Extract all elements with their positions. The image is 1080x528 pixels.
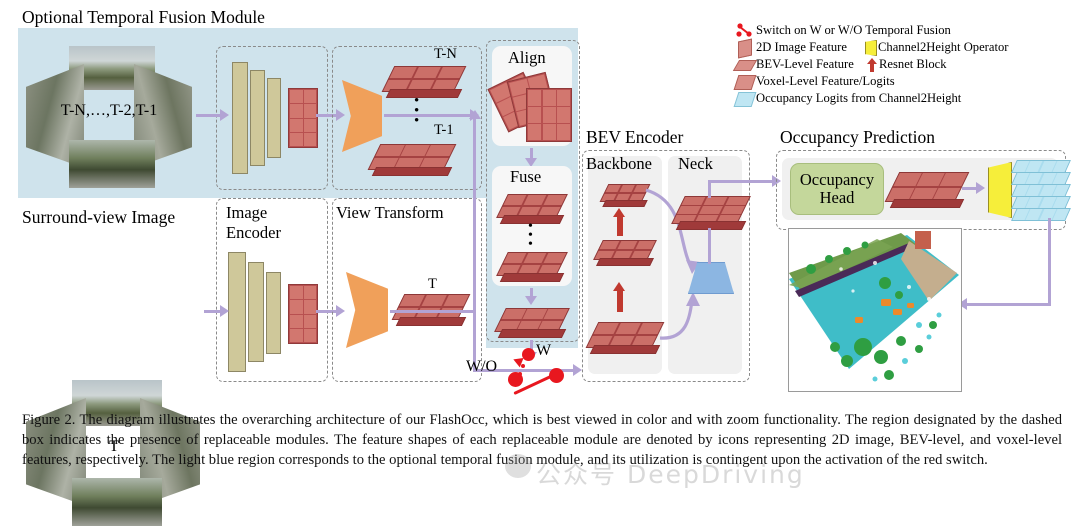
watermark: 公众号 DeepDriving	[536, 455, 805, 491]
history-timestamp-label: T-N,…,T-2,T-1	[24, 102, 194, 120]
occupancy-logits-bev	[892, 172, 962, 202]
align-title: Align	[508, 49, 546, 67]
arrow-history-ring-to-encoder	[196, 114, 222, 117]
arrowhead-9	[469, 110, 481, 119]
arrowhead-7	[220, 305, 229, 317]
occupancy-prediction-title: Occupancy Prediction	[780, 128, 935, 147]
dot-3: •	[414, 116, 419, 126]
align-aligned-grid	[526, 88, 572, 142]
arrowhead-10	[573, 364, 582, 376]
occupancy-logits-icon	[734, 92, 757, 107]
legend-label-resnet: Resnet Block	[879, 58, 947, 71]
switch-label-wo: W/O	[466, 358, 497, 376]
legend-label-occupancy-logits: Occupancy Logits from Channel2Height	[756, 92, 961, 105]
arrow-vt-branch-up	[473, 118, 476, 312]
occupancy-head-line1: Occupancy	[800, 171, 874, 189]
arrow-vt-out	[390, 310, 476, 313]
history-vertical-dots: • • •	[414, 96, 419, 126]
neck-output-bev	[678, 196, 744, 224]
legend-label-bev-feature: BEV-Level Feature	[756, 58, 854, 71]
label-t-1: T-1	[434, 122, 454, 139]
history-bev-feature-tn	[388, 66, 460, 92]
occupancy-head-line2: Head	[820, 189, 855, 207]
history-bev-feature-t1	[374, 144, 450, 170]
image-encoder-title-line2: Encoder	[226, 224, 281, 242]
history-2d-feature	[288, 88, 318, 148]
watermark-icon	[505, 454, 531, 478]
legend-label-voxel-feature: Voxel-Level Feature/Logits	[756, 75, 895, 88]
dot-6: •	[528, 240, 533, 249]
history-surround-view: T-N,…,T-2,T-1	[24, 44, 194, 190]
bev-encoder-title: BEV Encoder	[586, 128, 683, 147]
arrow-voxel-to-pointcloud	[966, 303, 1051, 306]
occupancy-pointcloud-visualization	[788, 228, 962, 392]
fused-bev-output	[500, 308, 564, 332]
arrow-neck-to-output	[708, 228, 711, 264]
arrow-history-vt-to-align	[384, 114, 472, 117]
label-t-current: T	[428, 276, 437, 293]
fuse-vertical-dots: • • •	[528, 222, 533, 249]
label-t-n: T-N	[434, 46, 457, 63]
bev-skip-connections	[582, 150, 752, 380]
legend-label-switch: Switch on W or W/O Temporal Fusion	[756, 24, 951, 37]
current-bev-feature	[398, 294, 464, 320]
history-cam-back	[69, 140, 155, 188]
surround-view-title: Surround-view Image	[22, 208, 175, 227]
switch-node-w[interactable]	[522, 348, 535, 361]
arrowhead-1	[220, 109, 229, 121]
fuse-title: Fuse	[510, 168, 541, 186]
arrowhead-5	[525, 296, 537, 305]
current-2d-feature	[288, 284, 318, 344]
fuse-bev-slab-2	[502, 252, 562, 276]
2d-image-feature-icon	[738, 39, 752, 59]
switch-dash-dot-1	[521, 364, 525, 368]
figure-canvas: Optional Temporal Fusion Module T-N,…,T-…	[0, 0, 1080, 512]
bev-level-feature-icon	[733, 60, 757, 71]
current-cam-back	[72, 478, 162, 526]
switch-icon	[736, 23, 752, 37]
voxel-level-feature-icon	[734, 75, 757, 90]
channel2height-icon	[865, 40, 877, 56]
fuse-bev-slab-1	[502, 194, 562, 218]
channel2height-operator	[988, 162, 1012, 218]
arrow-neck-to-head	[708, 180, 776, 183]
image-encoder-title-line1: Image	[226, 204, 267, 222]
arrowhead-12	[976, 182, 985, 194]
switch-label-w: W	[536, 342, 551, 360]
legend-label-channel2height: Channel2Height Operator	[878, 41, 1008, 54]
view-transform-title: View Transform	[336, 204, 444, 222]
legend-label-2d-feature: 2D Image Feature	[756, 41, 847, 54]
temporal-fusion-title: Optional Temporal Fusion Module	[22, 8, 265, 27]
occupancy-voxel-output	[1014, 160, 1070, 218]
arrow-voxel-down	[1048, 218, 1051, 306]
occupancy-head: Occupancy Head	[790, 163, 884, 215]
